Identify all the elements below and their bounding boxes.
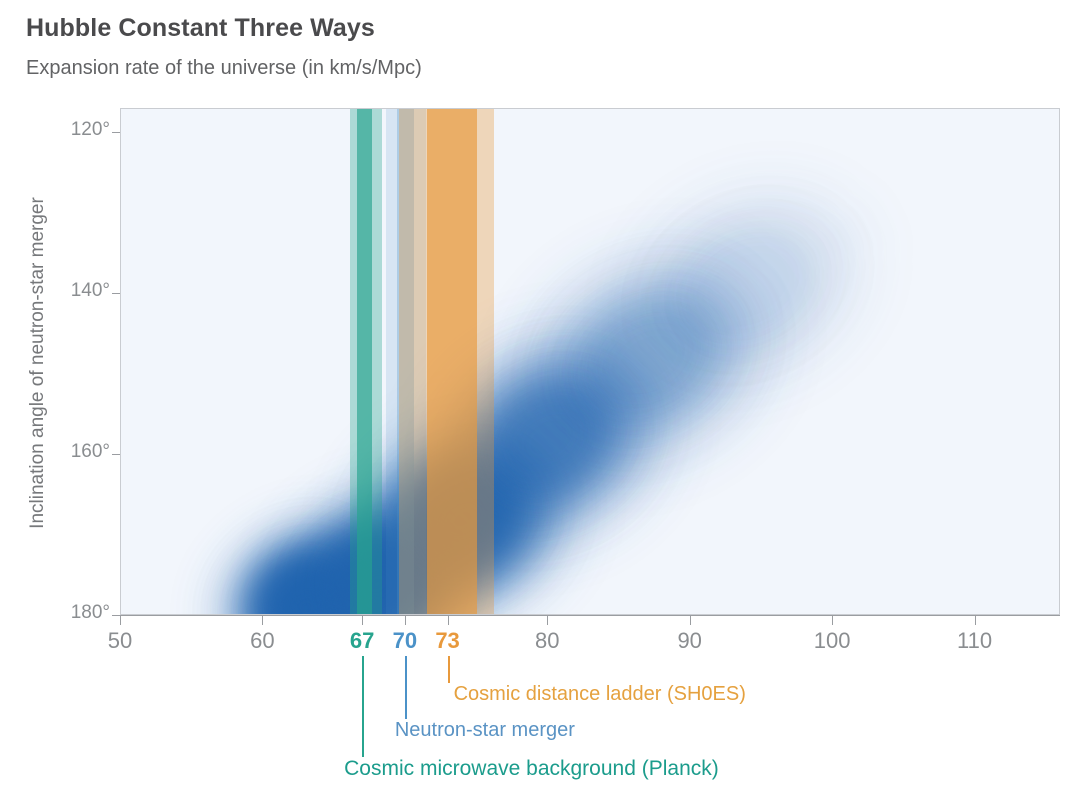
callout-label-cmb: Cosmic microwave background (Planck) xyxy=(344,757,719,781)
x-tick-mark-90 xyxy=(690,616,691,625)
callout-leader-cmb xyxy=(362,656,364,757)
y-tick-label-160: 160° xyxy=(54,441,110,463)
y-tick-mark-180 xyxy=(112,615,120,616)
y-tick-label-180: 180° xyxy=(54,602,110,624)
chart-page: Hubble Constant Three Ways Expansion rat… xyxy=(0,0,1080,796)
measurement-bands xyxy=(121,109,1059,614)
x-tick-label-80: 80 xyxy=(535,628,559,654)
x-tick-label-90: 90 xyxy=(677,628,701,654)
callout-leader-ladder xyxy=(448,656,450,683)
x-tick-label-67: 67 xyxy=(350,628,374,654)
x-tick-mark-80 xyxy=(547,616,548,625)
y-tick-label-120: 120° xyxy=(54,119,110,141)
callout-leader-merger xyxy=(405,656,407,719)
x-tick-mark-73 xyxy=(448,616,449,625)
x-tick-label-70: 70 xyxy=(393,628,417,654)
band-inner-ladder xyxy=(427,109,477,614)
x-tick-label-73: 73 xyxy=(435,628,459,654)
x-tick-label-60: 60 xyxy=(250,628,274,654)
x-tick-mark-100 xyxy=(832,616,833,625)
x-tick-label-50: 50 xyxy=(108,628,132,654)
x-tick-mark-110 xyxy=(975,616,976,625)
band-inner-cmb xyxy=(357,109,371,614)
y-tick-mark-120 xyxy=(112,132,120,133)
y-tick-label-140: 140° xyxy=(54,280,110,302)
page-subtitle: Expansion rate of the universe (in km/s/… xyxy=(26,57,422,80)
page-title: Hubble Constant Three Ways xyxy=(26,14,375,43)
y-axis-label: Inclination angle of neutron-star merger xyxy=(27,83,49,643)
y-tick-mark-160 xyxy=(112,454,120,455)
x-tick-mark-67 xyxy=(362,616,363,625)
plot-area xyxy=(120,108,1060,615)
x-axis-line xyxy=(120,615,1060,616)
callout-label-merger: Neutron-star merger xyxy=(395,719,575,742)
x-tick-label-110: 110 xyxy=(957,628,992,654)
y-tick-mark-140 xyxy=(112,293,120,294)
x-tick-mark-70 xyxy=(405,616,406,625)
callout-label-ladder: Cosmic distance ladder (SH0ES) xyxy=(454,683,746,706)
x-tick-mark-60 xyxy=(262,616,263,625)
x-tick-mark-50 xyxy=(120,616,121,625)
x-tick-label-100: 100 xyxy=(814,628,851,654)
